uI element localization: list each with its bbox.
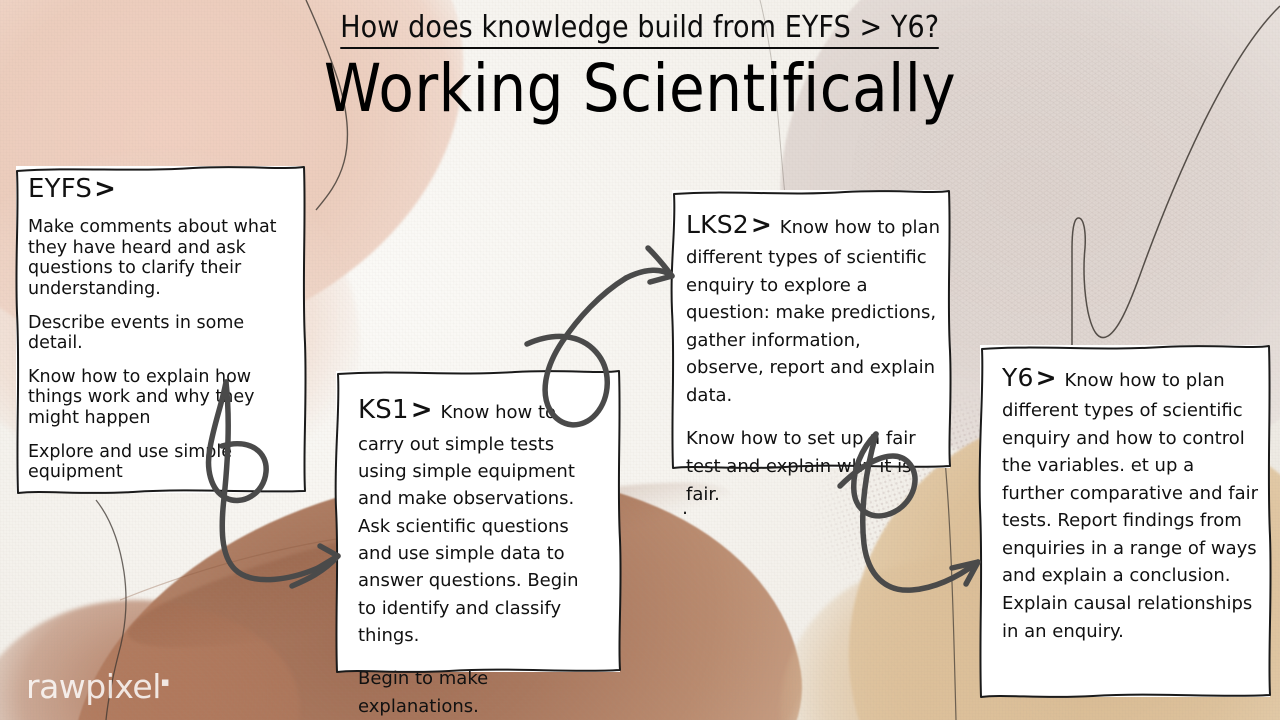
- watermark-text: rawpixel: [26, 667, 161, 706]
- note-lead-text: Know how to plan different types of scie…: [1002, 370, 1258, 642]
- stray-punctuation-mark: .: [682, 497, 688, 519]
- note-stage-label-y6: Y6>: [1002, 363, 1059, 392]
- stage-separator: >: [1034, 363, 1059, 392]
- note-card-ks1[interactable]: KS1> Know how to carry out simple tests …: [336, 371, 620, 672]
- stage-separator: >: [749, 210, 774, 239]
- note-card-eyfs[interactable]: EYFS> Make comments about what they have…: [16, 166, 305, 493]
- note-lead-text: Know how to carry out simple tests using…: [358, 402, 579, 646]
- stage-name: Y6: [1002, 363, 1034, 392]
- stage-name: LKS2: [686, 210, 749, 239]
- note-lead-paragraph: LKS2> Know how to plan different types o…: [686, 206, 940, 409]
- note-paragraph: Know how to set up a fair test and expla…: [686, 425, 940, 508]
- title-block: How does knowledge build from EYFS > Y6?…: [0, 10, 1280, 124]
- note-lead-text: Know how to plan different types of scie…: [686, 217, 940, 406]
- note-lead-paragraph: KS1> Know how to carry out simple tests …: [358, 391, 602, 649]
- note-paragraph: Make comments about what they have heard…: [28, 217, 293, 300]
- note-card-lks2[interactable]: LKS2> Know how to plan different types o…: [672, 190, 950, 468]
- note-paragraph: Begin to make explanations.: [358, 665, 602, 720]
- stage-separator: >: [92, 174, 118, 204]
- note-paragraph: Know how to explain how things work and …: [28, 367, 293, 429]
- slide-canvas: How does knowledge build from EYFS > Y6?…: [0, 0, 1280, 720]
- note-card-y6[interactable]: Y6> Know how to plan different types of …: [980, 345, 1270, 697]
- note-lead-paragraph: Y6> Know how to plan different types of …: [1002, 359, 1260, 645]
- note-body-y6: Y6> Know how to plan different types of …: [1002, 359, 1260, 645]
- stage-name: KS1: [358, 395, 409, 425]
- kicker-question: How does knowledge build from EYFS > Y6?: [341, 10, 940, 49]
- watermark-mark: ▪: [161, 675, 169, 690]
- note-body-ks1: KS1> Know how to carry out simple tests …: [358, 391, 602, 720]
- note-paragraph: Explore and use simple equipment: [28, 442, 293, 483]
- note-paragraph: Describe events in some detail.: [28, 313, 293, 354]
- stage-name: EYFS: [28, 174, 92, 204]
- rawpixel-watermark: rawpixel▪: [26, 667, 169, 706]
- stage-separator: >: [409, 395, 435, 425]
- note-stage-label-lks2: LKS2>: [686, 210, 774, 239]
- page-title: Working Scientifically: [77, 53, 1203, 124]
- note-stage-label-eyfs: EYFS>: [28, 174, 293, 204]
- note-body-lks2: LKS2> Know how to plan different types o…: [686, 206, 940, 508]
- note-stage-label-ks1: KS1>: [358, 395, 435, 425]
